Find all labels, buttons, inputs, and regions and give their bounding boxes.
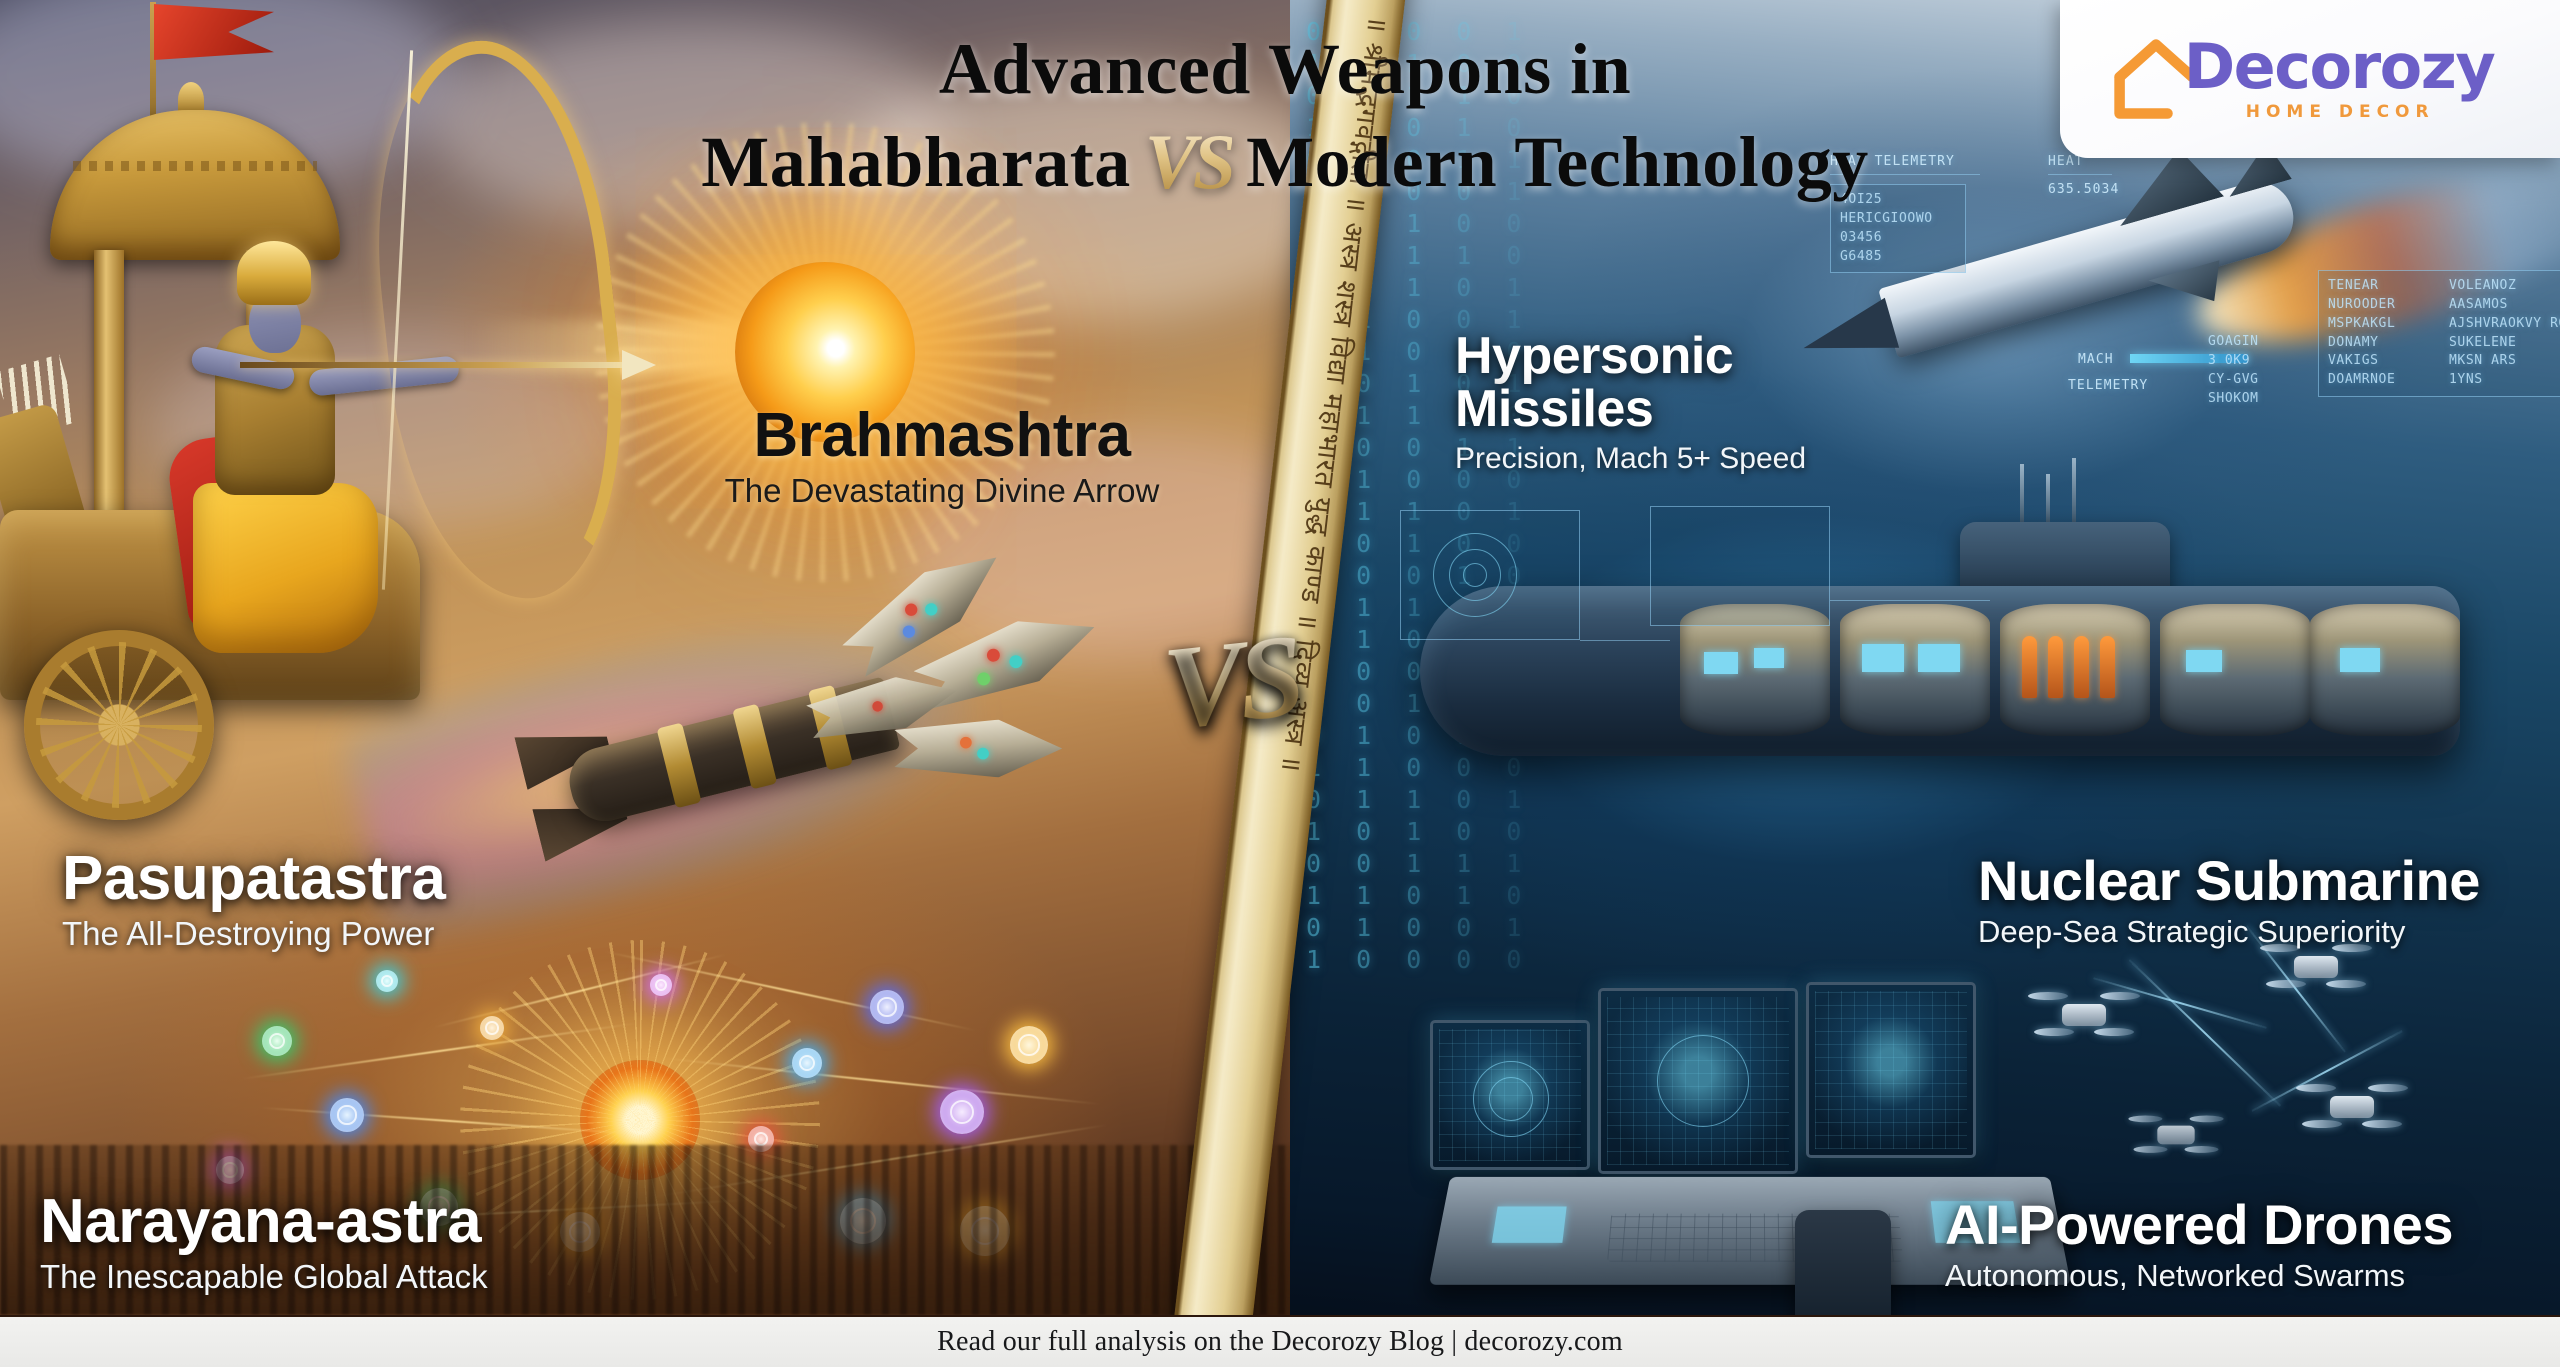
- drone-rotor: [2362, 1120, 2402, 1128]
- drone-unit: [2296, 1080, 2408, 1134]
- astra-gem: [900, 623, 917, 640]
- label-nuclear-submarine: Nuclear Submarine Deep-Sea Strategic Sup…: [1978, 852, 2560, 950]
- control-monitor-left: [1430, 1020, 1590, 1170]
- drone-rotor: [2134, 1146, 2168, 1153]
- title-left-word: Mahabharata: [701, 121, 1131, 204]
- submarine-compartment: [1840, 604, 1990, 736]
- label-narayana-astra: Narayana-astra The Inescapable Global At…: [40, 1190, 740, 1296]
- chariot-wheel: [24, 630, 214, 820]
- hud-label-telemetry: TELEMETRY: [2068, 378, 2148, 393]
- label-hypersonic-line1: Hypersonic: [1455, 327, 1733, 385]
- submarine-mast: [2020, 464, 2024, 524]
- energy-node: [870, 990, 904, 1024]
- label-ai-powered-drones-subtitle: Autonomous, Networked Swarms: [1945, 1259, 2560, 1294]
- chariot-flag: [154, 4, 274, 60]
- submarine-missile-bay: [2000, 604, 2150, 736]
- title-line-one: Advanced Weapons in: [640, 28, 1930, 111]
- warrior-figure: [185, 235, 415, 655]
- brand-name: Decorozy: [2184, 36, 2495, 98]
- label-pasupatastra-title: Pasupatastra: [62, 847, 702, 910]
- label-hypersonic-missiles: Hypersonic Missiles Precision, Mach 5+ S…: [1455, 330, 1925, 476]
- energy-node: [940, 1090, 984, 1134]
- drone-chassis: [2330, 1096, 2374, 1118]
- compartment-screen: [2340, 648, 2380, 672]
- drone-swarm: [1980, 940, 2480, 1220]
- drone-chassis: [2062, 1004, 2106, 1026]
- astra-gem: [960, 737, 972, 749]
- submarine-status-panel: [1650, 506, 1830, 626]
- drone-chassis: [2294, 956, 2338, 978]
- control-monitor-right: [1806, 982, 1976, 1158]
- hud-leader-line: [1580, 640, 1670, 641]
- submarine-warhead: [2100, 636, 2115, 698]
- arrow-shaft: [240, 362, 630, 368]
- nuclear-submarine-illustration: [1420, 520, 2510, 810]
- drone-rotor: [2028, 992, 2068, 1000]
- label-brahmashtra: Brahmashtra The Devastating Divine Arrow: [662, 404, 1222, 510]
- submarine-compartment: [2310, 604, 2460, 736]
- compartment-screen: [1704, 652, 1738, 674]
- energy-node: [792, 1048, 822, 1078]
- control-monitor-center: [1598, 988, 1798, 1174]
- label-narayana-astra-title: Narayana-astra: [40, 1190, 740, 1253]
- submarine-mast: [2046, 474, 2050, 524]
- hud-leader-line: [1830, 600, 1990, 601]
- canopy-pillar: [94, 250, 124, 550]
- monitor-glow: [1815, 991, 1967, 1149]
- label-pasupatastra: Pasupatastra The All-Destroying Power: [62, 847, 702, 953]
- label-nuclear-submarine-subtitle: Deep-Sea Strategic Superiority: [1978, 915, 2560, 950]
- drone-rotor: [2296, 1084, 2336, 1092]
- label-narayana-astra-subtitle: The Inescapable Global Attack: [40, 1259, 740, 1296]
- footer-cta-text[interactable]: Read our full analysis on the Decorozy B…: [937, 1326, 1623, 1358]
- drone-unit: [2028, 988, 2140, 1042]
- infographic-canvas: 0 1 0 0 1 1 1 0 1 0 0 1 0 0 1 1 0 1 1 1 …: [0, 0, 2560, 1367]
- astra-arrowhead: [894, 720, 1062, 778]
- title-vs-badge: VS: [1145, 117, 1232, 207]
- compartment-screen: [1754, 648, 1784, 668]
- astra-gem: [977, 748, 989, 760]
- drone-rotor: [2266, 980, 2306, 988]
- drone-rotor: [2094, 1028, 2134, 1036]
- label-hypersonic-line2: Missiles: [1455, 380, 1653, 438]
- hud-label-mach: MACH: [2078, 352, 2114, 367]
- label-hypersonic-missiles-subtitle: Precision, Mach 5+ Speed: [1455, 442, 1925, 476]
- energy-node: [376, 970, 398, 992]
- radar-ring: [1489, 1077, 1533, 1121]
- footer-bar: Read our full analysis on the Decorozy B…: [0, 1315, 2560, 1367]
- drone-rotor: [2190, 1115, 2224, 1122]
- submarine-warhead: [2074, 636, 2089, 698]
- label-ai-powered-drones-title: AI-Powered Drones: [1945, 1196, 2560, 1253]
- drone-rotor: [2326, 980, 2366, 988]
- hud-readout-mid: GOAGIN 3 0K9 CY-GVG SHOKOM: [2198, 326, 2308, 415]
- astra-gem: [923, 601, 940, 618]
- astra-gem: [903, 601, 920, 618]
- submarine-warhead: [2048, 636, 2063, 698]
- energy-node: [650, 974, 672, 996]
- sonar-ring: [1463, 563, 1487, 587]
- hud-table-right: VOLEANOZ AASAMOS AJSHVRAOKVY ROXE SUKELE…: [2440, 270, 2560, 397]
- arrow-tip-icon: [622, 350, 656, 380]
- hud-readout-heat: 635.5034: [2048, 182, 2119, 197]
- hud-table-left: TENEAR NUROODER MSPKAKGL DONAMY VAKIGS D…: [2318, 270, 2440, 397]
- label-brahmashtra-subtitle: The Devastating Divine Arrow: [662, 473, 1222, 510]
- drone-rotor: [2100, 992, 2140, 1000]
- submarine-mast: [2072, 458, 2076, 524]
- energy-node: [480, 1016, 504, 1040]
- drone-rotor: [2368, 1084, 2408, 1092]
- arjuna-chariot-illustration: [0, 10, 550, 730]
- compartment-screen: [1918, 644, 1960, 672]
- brand-logo-card[interactable]: Decorozy HOME DECOR: [2060, 0, 2560, 158]
- label-pasupatastra-subtitle: The All-Destroying Power: [62, 916, 702, 953]
- drone-network-link: [2129, 959, 2281, 1106]
- energy-node: [330, 1098, 364, 1132]
- brand-tagline: HOME DECOR: [2246, 102, 2435, 122]
- title-line-two: Mahabharata VS Modern Technology: [640, 117, 1930, 207]
- center-vs-badge: VS: [1158, 607, 1306, 756]
- drone-rotor: [2128, 1115, 2162, 1122]
- label-ai-powered-drones: AI-Powered Drones Autonomous, Networked …: [1945, 1196, 2560, 1294]
- submarine-sonar-panel: [1400, 510, 1580, 640]
- hud-leader-line: [2048, 174, 2112, 175]
- label-nuclear-submarine-title: Nuclear Submarine: [1978, 852, 2560, 909]
- drone-rotor: [2034, 1028, 2074, 1036]
- energy-node: [1010, 1026, 1048, 1064]
- energy-node: [262, 1026, 292, 1056]
- drone-chassis: [2157, 1126, 2194, 1145]
- label-hypersonic-missiles-title: Hypersonic Missiles: [1455, 330, 1925, 436]
- drone-rotor: [2302, 1120, 2342, 1128]
- console-indicator: [1492, 1206, 1567, 1242]
- submarine-warhead: [2022, 636, 2037, 698]
- compartment-screen: [1862, 644, 1904, 672]
- page-title: Advanced Weapons in Mahabharata VS Moder…: [640, 28, 1930, 207]
- drone-unit: [2128, 1112, 2223, 1158]
- title-right-word: Modern Technology: [1246, 121, 1869, 204]
- compartment-screen: [2186, 650, 2222, 672]
- warrior-crown: [237, 241, 311, 305]
- astra-gem: [975, 671, 992, 688]
- operator-chair: [1795, 1210, 1891, 1330]
- globe-ring: [1657, 1035, 1749, 1127]
- astra-gem: [1008, 653, 1025, 670]
- submarine-compartment: [2160, 604, 2310, 736]
- drone-rotor: [2185, 1146, 2219, 1153]
- astra-gem: [985, 647, 1002, 664]
- brand-text-block: Decorozy HOME DECOR: [2184, 36, 2495, 122]
- astra-gem: [871, 700, 883, 712]
- warrior-dhoti: [193, 483, 378, 653]
- label-brahmashtra-title: Brahmashtra: [662, 404, 1222, 467]
